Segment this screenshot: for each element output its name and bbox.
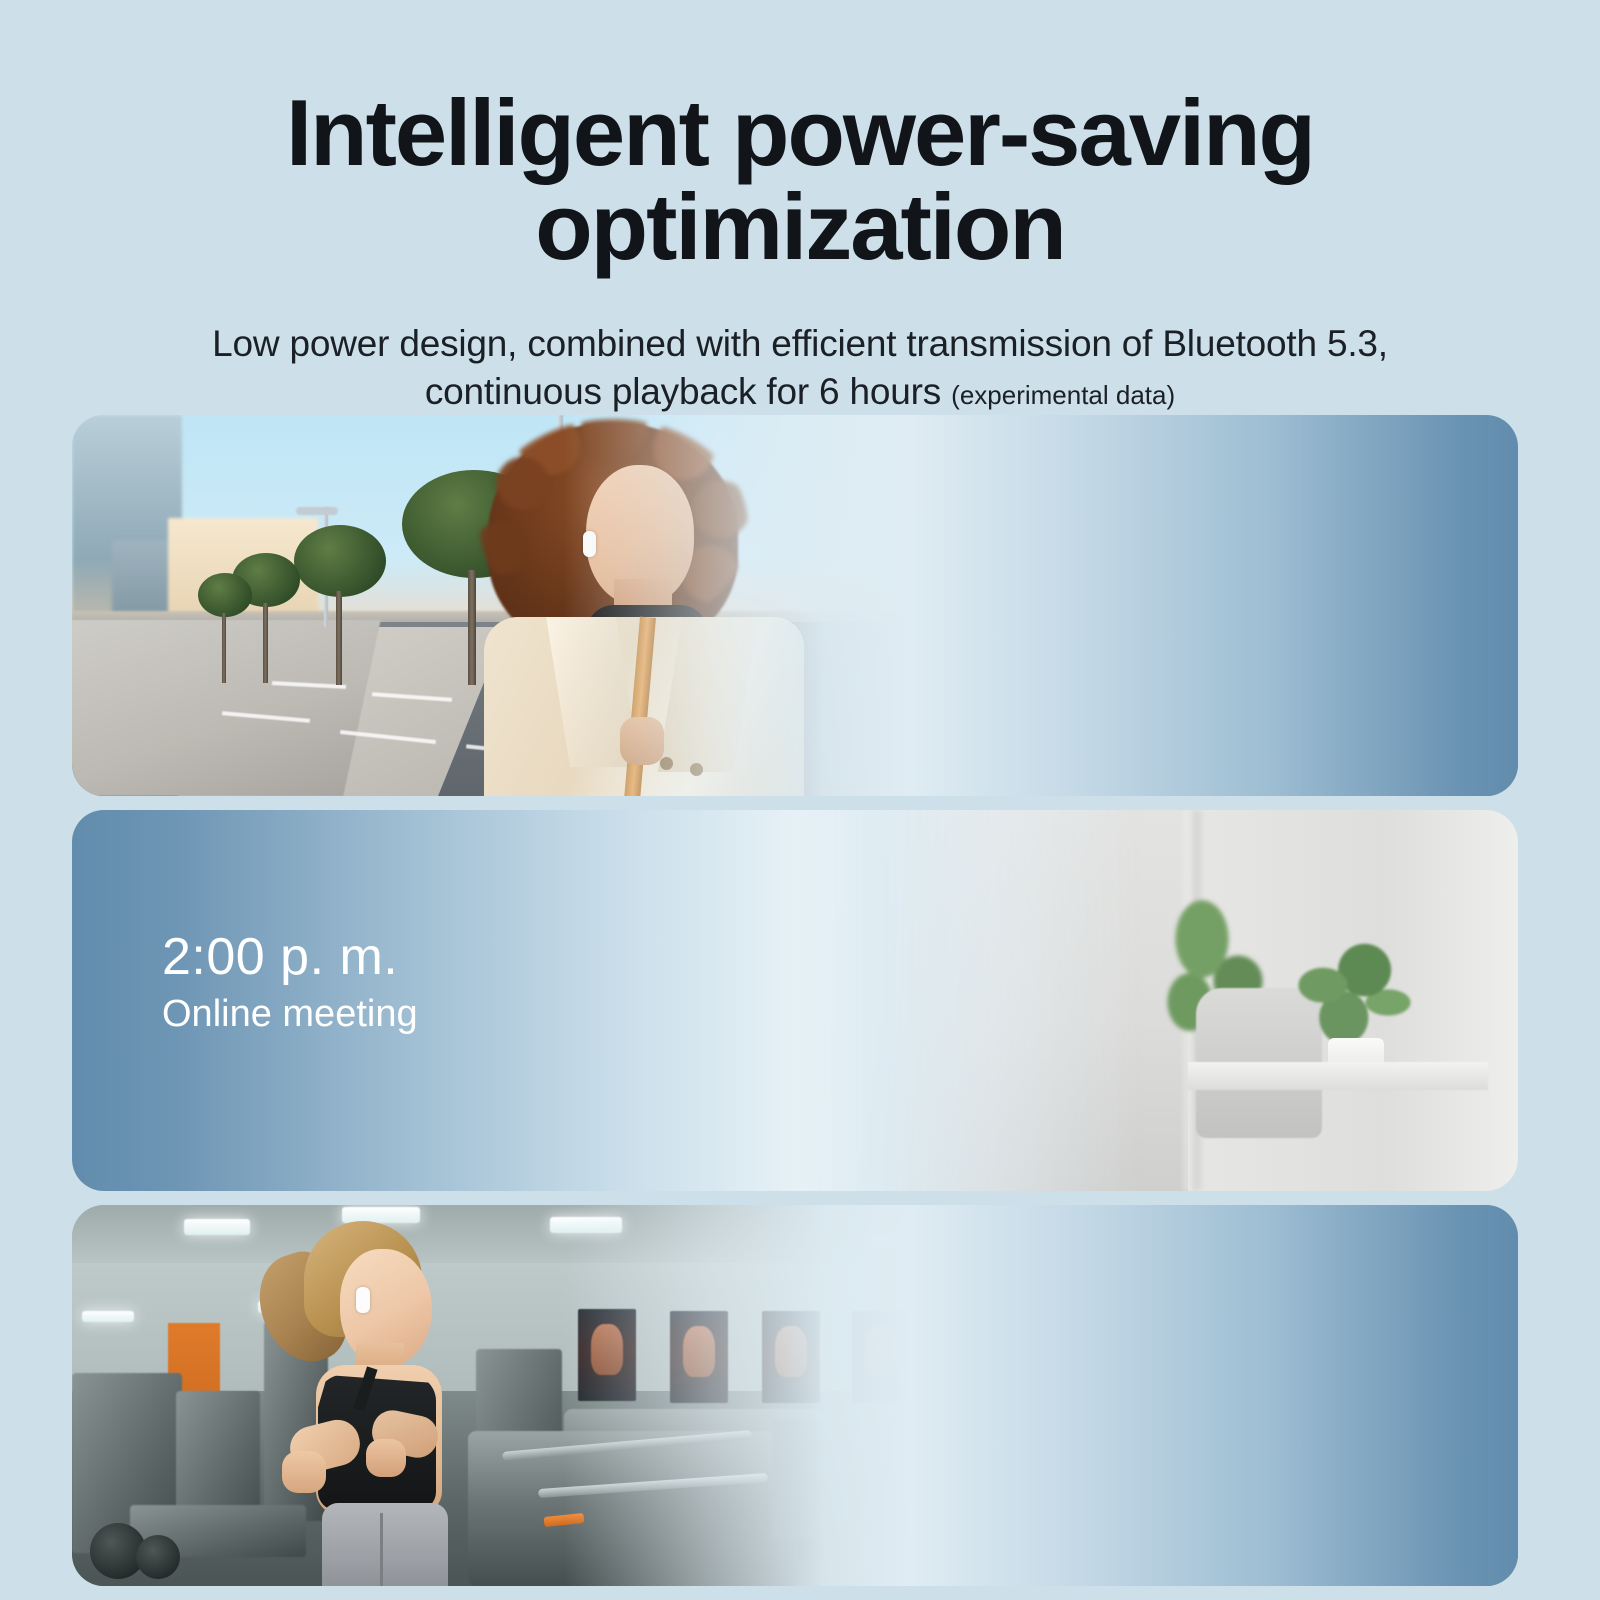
timeline-card-afternoon[interactable]: 2:00 p. m. Online meeting — [72, 810, 1518, 1191]
page-title-line-2: optimization — [0, 180, 1600, 274]
page-subtitle-note: (experimental data) — [951, 380, 1175, 410]
page-header: Intelligent power-saving optimization Lo… — [0, 0, 1600, 416]
page-subtitle-line-1: Low power design, combined with efficien… — [0, 320, 1600, 368]
page-subtitle-line-2-wrap: continuous playback for 6 hours (experim… — [0, 368, 1600, 416]
timeline-card-evening[interactable]: 8:00 p. m. Gym/Training — [72, 1205, 1518, 1586]
card-time: 2:00 p. m. — [162, 930, 418, 985]
page-title: Intelligent power-saving optimization — [0, 86, 1600, 274]
card-gradient-overlay — [72, 1205, 1518, 1586]
page-subtitle-line-2: continuous playback for 6 hours — [425, 371, 941, 412]
page-subtitle: Low power design, combined with efficien… — [0, 320, 1600, 416]
card-gradient-overlay — [72, 415, 1518, 796]
timeline-card-morning[interactable]: 8:00 a. m. Movement to work — [72, 415, 1518, 796]
card-text-afternoon: 2:00 p. m. Online meeting — [162, 930, 418, 1038]
card-label: Online meeting — [162, 991, 418, 1039]
page-title-line-1: Intelligent power-saving — [286, 80, 1314, 185]
timeline-card-list: 8:00 a. m. Movement to work — [72, 415, 1518, 1600]
